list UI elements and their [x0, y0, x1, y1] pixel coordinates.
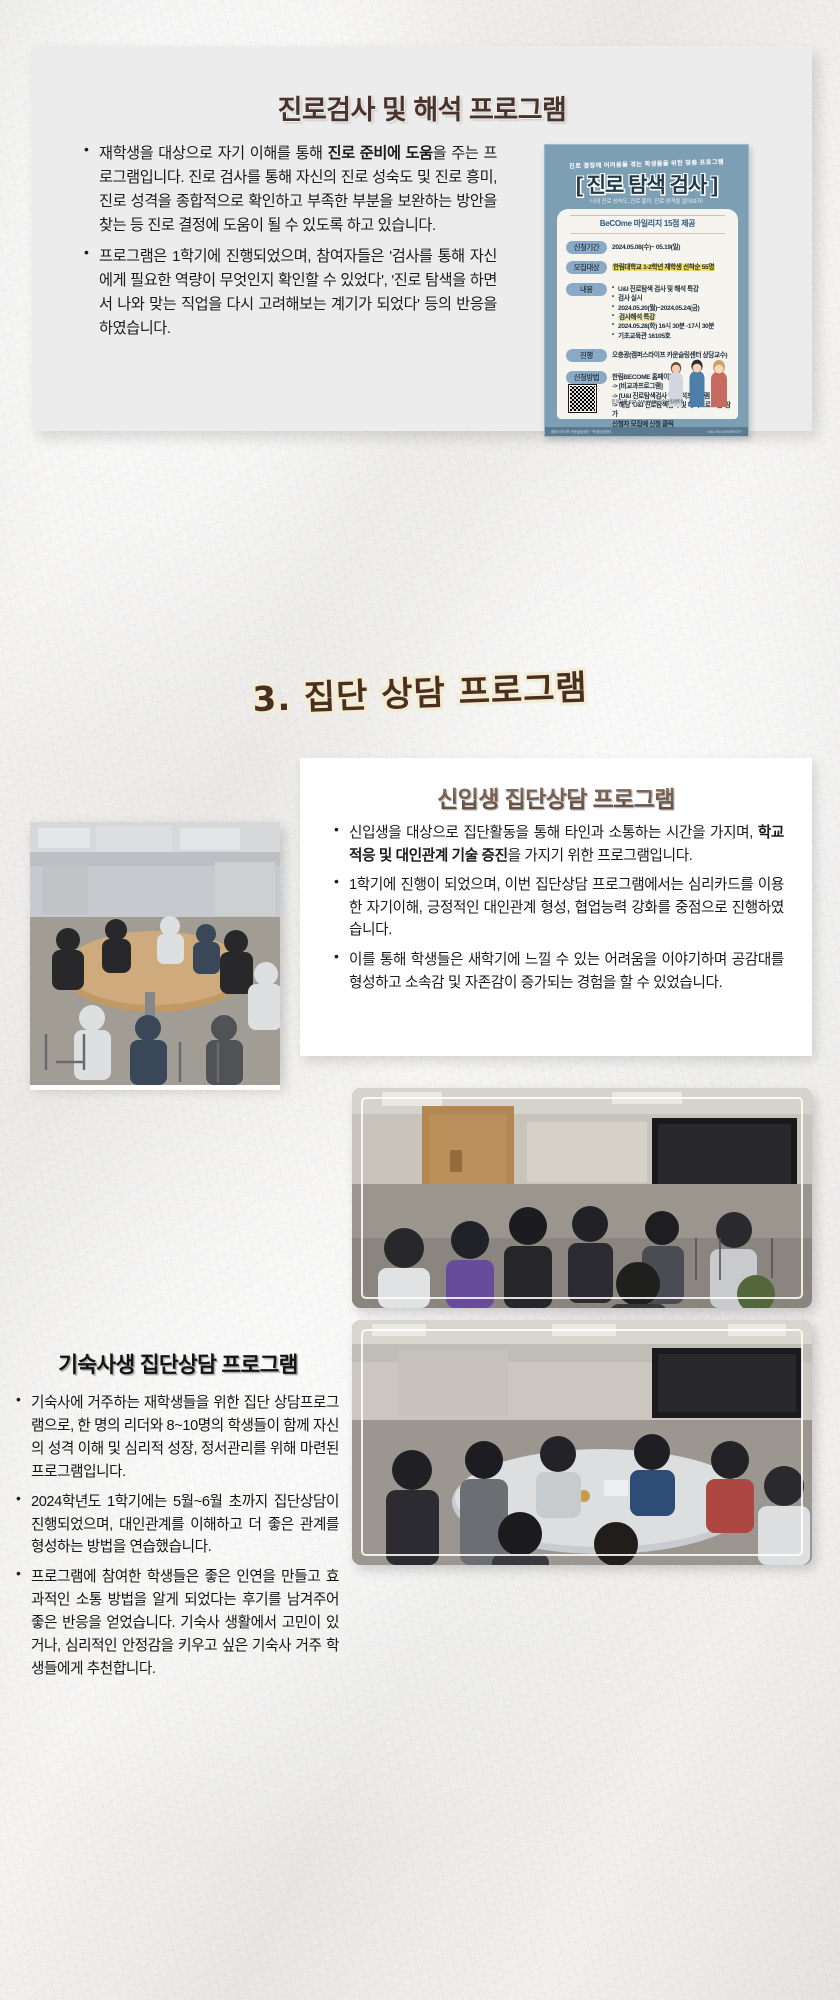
freshman-program-panel: 신입생 집단상담 프로그램 신입생을 대상으로 집단활동을 통해 타인과 소통하…: [300, 758, 812, 1056]
dorm-bullet-list: 기숙사에 거주하는 재학생들을 위한 집단 상담프로그램으로, 한 명의 리더와…: [14, 1392, 339, 1681]
poster-tag-target: 모집대상: [566, 261, 607, 274]
list-item: 기숙사에 거주하는 재학생들을 위한 집단 상담프로그램으로, 한 명의 리더와…: [14, 1392, 339, 1484]
dorm-group-photo-1: [352, 1088, 812, 1308]
poster-content-list: U&I 진로탐색 검사 및 해석 특강 검사 실시 2024.05.20(월)~…: [612, 285, 736, 341]
poster-tag-host: 진행: [566, 349, 607, 362]
poster-tag-content: 내용: [566, 283, 607, 296]
freshman-bullet-3: 이를 통해 학생들은 새학기에 느낄 수 있는 어려움을 이야기하며 공감대를 …: [349, 949, 784, 994]
dorm-program-description: 기숙사에 거주하는 재학생들을 위한 집단 상담프로그램으로, 한 명의 리더와…: [14, 1392, 339, 1688]
freshman-photo-strip: [30, 1085, 280, 1090]
poster-content-date-2: 2024.05.28(화) 16시 30분 -17시 30분: [612, 322, 736, 331]
poster-value-period: 2024.05.08(수)~ 05.19(일): [612, 241, 736, 254]
poster-content-item-3: 검사해석 특강: [618, 314, 656, 321]
section-3-heading: 3. 집단 상담 프로그램: [0, 651, 840, 731]
dorm-program-title: 기숙사생 집단상담 프로그램: [18, 1348, 338, 1379]
dorm-bullet-3: 프로그램에 참여한 학생들은 좋은 인연을 만들고 효과적인 소통 방법을 알게…: [31, 1566, 339, 1681]
career-test-bullet-1: 재학생을 대상으로 자기 이해를 통해 진로 준비에 도움을 주는 프로그램입니…: [99, 142, 497, 238]
poster-subtitle: 나의 진로 성숙도, 진로 흥미, 진로 성격을 알아보자!: [545, 197, 748, 205]
career-test-poster: 진로 결정에 어려움을 겪는 학생들을 위한 맞춤 프로그램 [ 진로 탐색 검…: [544, 144, 749, 437]
list-item: 신입생을 대상으로 집단활동을 통해 타인과 소통하는 시간을 가지며, 학교 …: [332, 822, 784, 867]
divider: [570, 233, 725, 234]
poster-strip-left: 캠퍼스라이프 카운슬링센터 · 학생상담센터: [551, 429, 611, 434]
poster-strip-right: HALLYM UNIVERSITY: [707, 430, 742, 434]
poster-content-location: 기초교육관 16105호: [612, 332, 736, 341]
career-test-bullet-list: 재학생을 대상으로 자기 이해를 통해 진로 준비에 도움을 주는 프로그램입니…: [82, 142, 497, 341]
poster-footer-contact: 문의사항 033-248-3430(기숙슬링센터): [557, 399, 738, 405]
list-item: 1학기에 진행이 되었으며, 이번 집단상담 프로그램에서는 심리카드를 이용한…: [332, 874, 784, 942]
poster-row-target: 모집대상 한림대학교 1-2학년 재학생 선착순 55명: [566, 261, 736, 274]
list-item: 검사 실시: [612, 294, 736, 303]
freshman-program-title: 신입생 집단상담 프로그램: [300, 780, 812, 814]
poster-tag-period: 신청기간: [566, 241, 607, 254]
poster-mileage-text: BeCOme 마일리지 15점 제공: [557, 218, 738, 229]
poster-value-target-text: 한림대학교 1-2학년 재학생 선착순 55명: [612, 264, 715, 271]
dorm-group-photo-2: [352, 1320, 812, 1565]
career-test-description: 재학생을 대상으로 자기 이해를 통해 진로 준비에 도움을 주는 프로그램입니…: [82, 142, 497, 348]
divider: [570, 215, 725, 216]
list-item: 프로그램은 1학기에 진행되었으며, 참여자들은 '검사를 통해 자신에게 필요…: [82, 245, 497, 341]
freshman-group-photo: [30, 822, 280, 1085]
freshman-bullet-list: 신입생을 대상으로 집단활동을 통해 타인과 소통하는 시간을 가지며, 학교 …: [332, 822, 784, 994]
list-item: 프로그램에 참여한 학생들은 좋은 인연을 만들고 효과적인 소통 방법을 알게…: [14, 1566, 339, 1681]
poster-value-target: 한림대학교 1-2학년 재학생 선착순 55명: [612, 261, 736, 274]
poster-bottom-strip: 캠퍼스라이프 카운슬링센터 · 학생상담센터 HALLYM UNIVERSITY: [545, 427, 748, 436]
poster-row-content: 내용 U&I 진로탐색 검사 및 해석 특강 검사 실시 2024.05.20(…: [566, 283, 736, 341]
poster-content-date-1: 2024.05.20(월)~2024.05.24(금): [612, 304, 736, 313]
list-item: U&I 진로탐색 검사 및 해석 특강: [612, 285, 736, 294]
list-item: 이를 통해 학생들은 새학기에 느낄 수 있는 어려움을 이야기하며 공감대를 …: [332, 949, 784, 994]
dorm-photo-1-image: [352, 1088, 812, 1308]
dorm-bullet-2: 2024학년도 1학기에는 5월~6월 초까지 집단상담이 진행되었으며, 대인…: [31, 1491, 339, 1560]
poster-title: [ 진로 탐색 검사 ]: [545, 169, 748, 199]
freshman-bullet-1: 신입생을 대상으로 집단활동을 통해 타인과 소통하는 시간을 가지며, 학교 …: [349, 822, 784, 867]
page-title: 진로검사 및 해석 프로그램: [32, 88, 812, 127]
freshman-photo-image: [30, 822, 280, 1085]
poster-tag-apply: 신청방법: [566, 371, 607, 384]
list-item: 재학생을 대상으로 자기 이해를 통해 진로 준비에 도움을 주는 프로그램입니…: [82, 142, 497, 238]
dorm-photo-2-image: [352, 1320, 812, 1565]
list-item: 2024학년도 1학기에는 5월~6월 초까지 집단상담이 진행되었으며, 대인…: [14, 1491, 339, 1560]
freshman-program-description: 신입생을 대상으로 집단활동을 통해 타인과 소통하는 시간을 가지며, 학교 …: [332, 822, 784, 1001]
poster-row-period: 신청기간 2024.05.08(수)~ 05.19(일): [566, 241, 736, 254]
dorm-bullet-1: 기숙사에 거주하는 재학생들을 위한 집단 상담프로그램으로, 한 명의 리더와…: [31, 1392, 339, 1484]
poster-value-content: U&I 진로탐색 검사 및 해석 특강 검사 실시 2024.05.20(월)~…: [612, 283, 736, 341]
list-item: 검사해석 특강: [612, 313, 736, 322]
poster-info-card: BeCOme 마일리지 15점 제공 신청기간 2024.05.08(수)~ 0…: [557, 209, 738, 419]
career-test-bullet-2: 프로그램은 1학기에 진행되었으며, 참여자들은 '검사를 통해 자신에게 필요…: [99, 245, 497, 341]
freshman-bullet-2: 1학기에 진행이 되었으며, 이번 집단상담 프로그램에서는 심리카드를 이용한…: [349, 874, 784, 942]
career-test-panel: 진로검사 및 해석 프로그램 재학생을 대상으로 자기 이해를 통해 진로 준비…: [32, 46, 812, 431]
